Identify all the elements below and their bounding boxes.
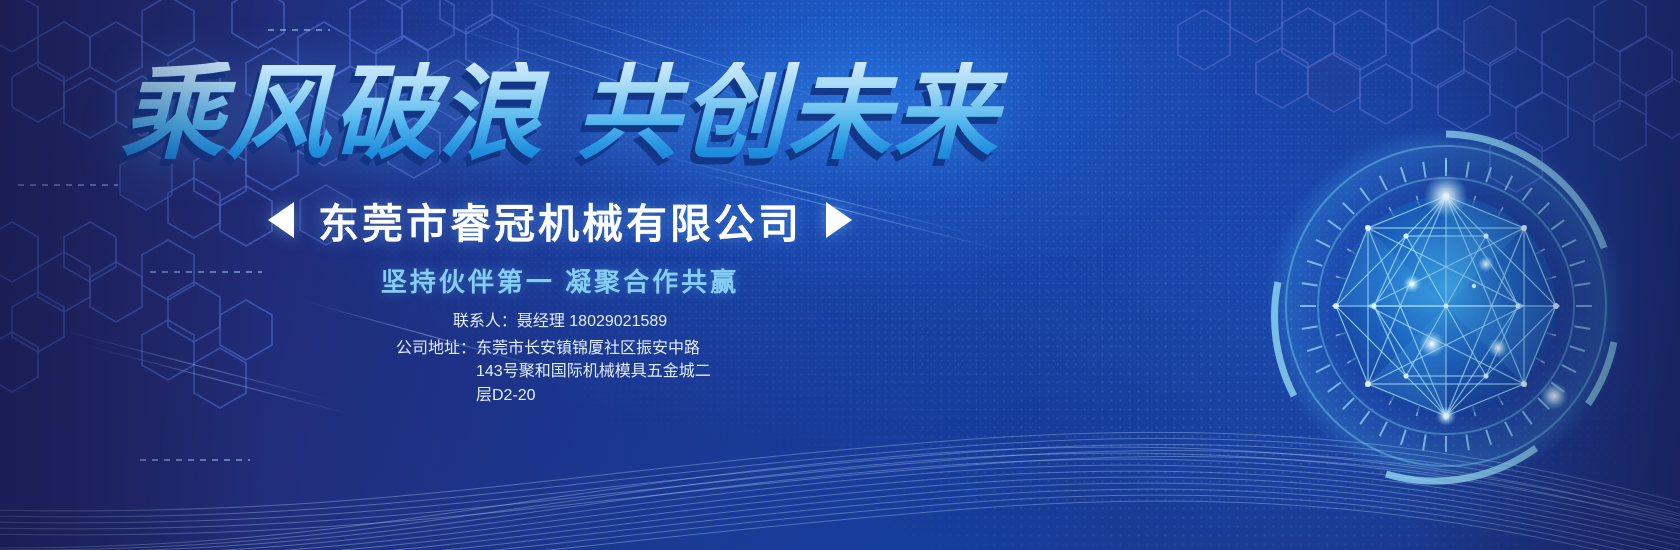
promotional-banner: 乘风破浪 共创未来 东莞市睿冠机械有限公司 坚持伙伴第一 凝聚合作共赢 联系人：…	[0, 0, 1680, 550]
company-slogan: 坚持伙伴第一 凝聚合作共赢	[0, 262, 1120, 299]
left-triangle-icon	[268, 202, 294, 238]
contact-person-value: 聂经理 18029021589	[517, 310, 667, 333]
banner-headline: 乘风破浪 共创未来	[0, 62, 1120, 166]
company-name-row: 东莞市睿冠机械有限公司	[0, 190, 1120, 250]
bottom-wave-lines	[0, 360, 1680, 550]
contact-person-row: 联系人： 聂经理 18029021589	[0, 310, 1120, 333]
right-triangle-icon	[826, 202, 852, 238]
contact-person-label: 联系人：	[453, 310, 517, 333]
company-name: 东莞市睿冠机械有限公司	[318, 190, 802, 250]
